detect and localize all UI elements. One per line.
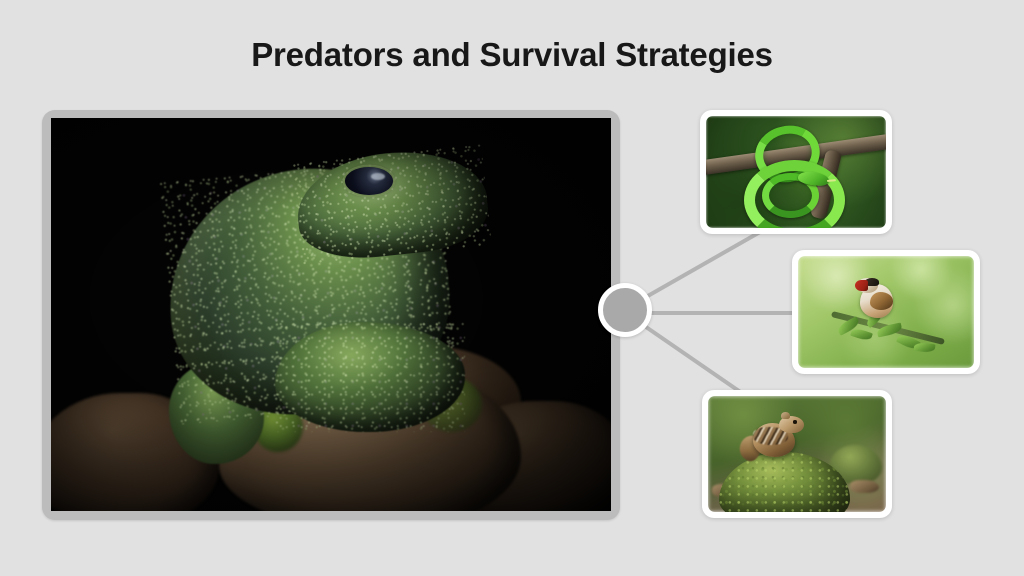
bird-face-mask <box>855 280 868 291</box>
chipmunk-ear <box>781 412 790 419</box>
thumbnail-photo-bird <box>798 256 974 368</box>
thumbnail-photo-snake <box>706 116 886 228</box>
thumbnail-card-snake[interactable] <box>700 110 892 234</box>
bird-wing <box>870 292 893 310</box>
thumbnail-card-bird[interactable] <box>792 250 980 374</box>
frog-head-speckles <box>293 144 493 266</box>
main-image-frame[interactable] <box>42 110 620 520</box>
frog-eye <box>345 167 393 195</box>
frog-head <box>293 144 493 266</box>
hub-node[interactable] <box>598 283 652 337</box>
slide-canvas: Predators and Survival Strategies <box>0 0 1024 576</box>
thumbnail-photo-chipmunk <box>708 396 886 512</box>
main-photo-mossy-frog <box>51 118 611 511</box>
connector-line-snake <box>646 232 760 297</box>
frog-leg-speckles <box>275 322 465 432</box>
forest-debris <box>850 480 878 494</box>
frog-hindleg <box>275 322 465 432</box>
thumbnail-card-chipmunk[interactable] <box>702 390 892 518</box>
